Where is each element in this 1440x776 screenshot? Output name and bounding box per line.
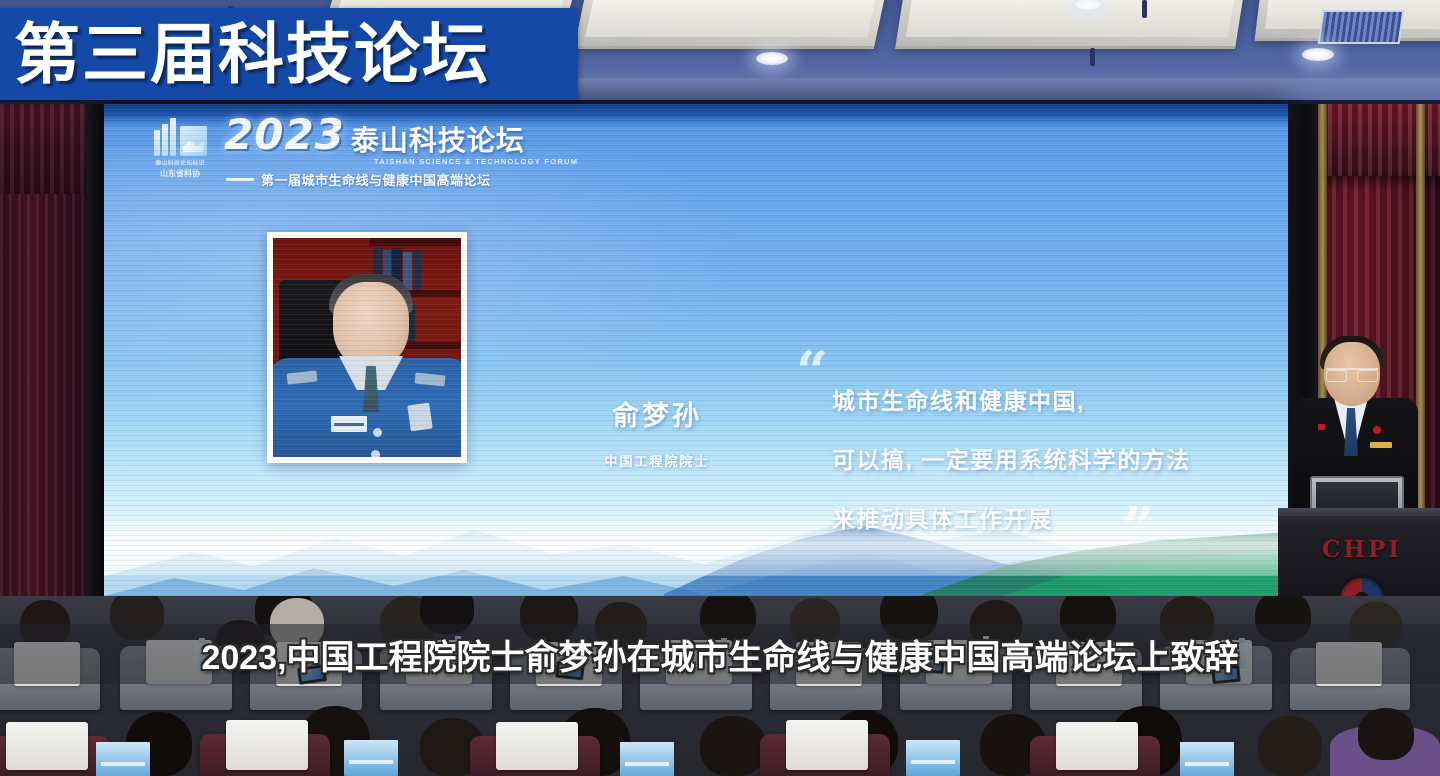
logo-org-line2: 山东省科协: [160, 168, 200, 179]
seat-headrest-cover: [786, 720, 868, 770]
quote-line: 可以搞, 一定要用系统科学的方法: [832, 441, 1191, 475]
seat-pocket-leaflet: [344, 740, 398, 776]
name-badge: [1370, 442, 1392, 448]
speaker-portrait-frame: [267, 232, 467, 463]
uniform-ribbon: [331, 416, 367, 432]
slide-header: 泰山科技论坛标识 山东省科协 2023 泰山科技论坛 TAISHAN SCIEN…: [150, 116, 578, 189]
speaker-title: 中国工程院院士: [572, 451, 742, 470]
logo-org-line1: 泰山科技论坛标识: [155, 158, 205, 167]
ceiling-coffer: [895, 0, 1245, 49]
speaker-name: 俞梦孙: [572, 394, 742, 433]
portrait-face: [333, 282, 409, 368]
quote-open-mark: “: [796, 356, 828, 390]
caption-text: 2023,中国工程院院士俞梦孙在城市生命线与健康中国高端论坛上致辞: [201, 630, 1238, 679]
subtitle-dash: [226, 178, 254, 181]
forum-logo: 泰山科技论坛标识 山东省科协: [150, 116, 210, 179]
seat-pocket-leaflet: [96, 742, 150, 776]
book-pages-logo-icon: [154, 116, 207, 156]
ceiling-coffer: [574, 0, 887, 49]
program-title-banner: 第三届科技论坛: [0, 8, 578, 100]
ceiling-downlight-icon: [1302, 48, 1334, 61]
quote-line: 城市生命线和健康中国,: [832, 382, 1191, 416]
seat-pocket-leaflet: [620, 742, 674, 776]
led-presentation-screen: 泰山科技论坛标识 山东省科协 2023 泰山科技论坛 TAISHAN SCIEN…: [104, 104, 1288, 636]
audience-member: [1258, 716, 1322, 776]
forum-title-en: TAISHAN SCIENCE & TECHNOLOGY FORUM: [374, 157, 578, 166]
uniform-patch: [407, 403, 432, 432]
seat-headrest-cover: [496, 722, 578, 770]
seat-headrest-cover: [226, 720, 308, 770]
quote-close-mark: ”: [1122, 512, 1154, 546]
audience-member: [700, 716, 766, 776]
seat-pocket-leaflet: [1180, 742, 1234, 776]
ceiling-downlight-icon: [756, 52, 788, 65]
ceiling-fixture: [1142, 0, 1147, 18]
seat-headrest-cover: [6, 722, 88, 770]
forum-subtitle: 第一届城市生命线与健康中国高端论坛: [261, 170, 491, 189]
forum-title-cn: 泰山科技论坛: [351, 127, 525, 155]
podium-sign-text: CHPI: [1278, 536, 1440, 563]
slide-title-block: 2023 泰山科技论坛 TAISHAN SCIENCE & TECHNOLOGY…: [224, 116, 578, 189]
speaker-identity: 俞梦孙 中国工程院院士: [572, 394, 742, 470]
lapel-pin-icon: [1318, 424, 1325, 430]
audience-area: [0, 596, 1440, 776]
ceiling-fixture: [1090, 48, 1095, 66]
seat-headrest-cover: [1056, 722, 1138, 770]
air-vent: [1318, 10, 1405, 44]
speaker-portrait-photo: [273, 238, 461, 457]
screenshot-root: 泰山科技论坛标识 山东省科协 2023 泰山科技论坛 TAISHAN SCIEN…: [0, 0, 1440, 776]
eyeglasses-icon: [1326, 368, 1378, 380]
presenter-at-podium: CHPI: [1278, 330, 1440, 640]
caption-bar: 2023,中国工程院院士俞梦孙在城市生命线与健康中国高端论坛上致辞: [0, 624, 1440, 684]
slide-year: 2023: [224, 116, 345, 155]
program-title-text: 第三届科技论坛: [14, 21, 490, 87]
audience-member: [1358, 708, 1414, 760]
seat-pocket-leaflet: [906, 740, 960, 776]
lapel-pin-icon: [1373, 426, 1381, 434]
